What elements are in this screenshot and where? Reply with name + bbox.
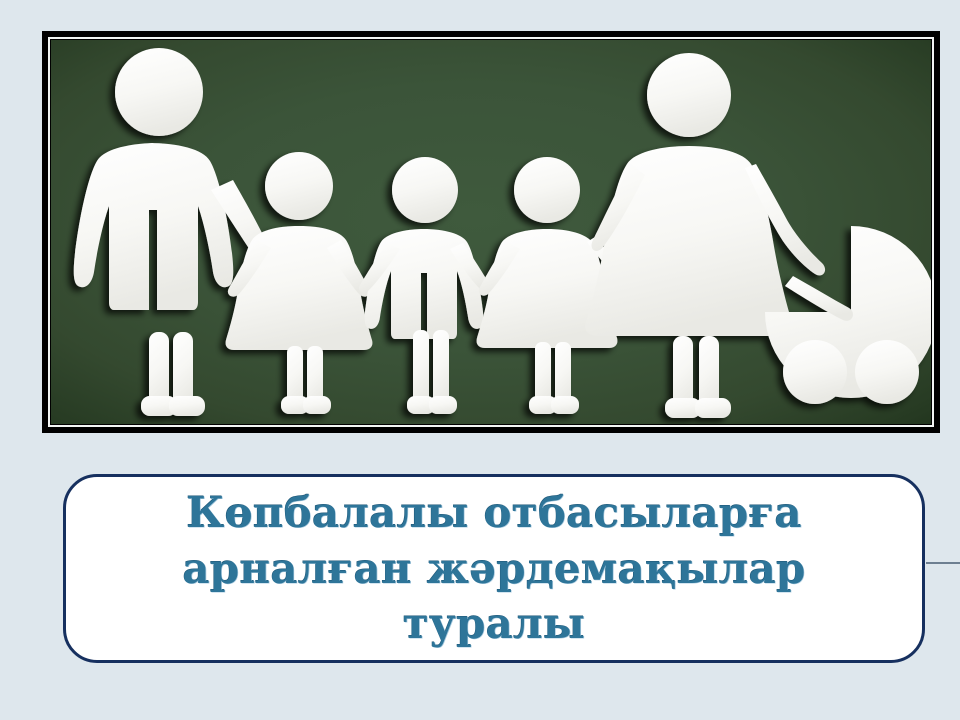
slide-canvas: Көпбалалы отбасыларға арналған жәрдемақы… — [0, 0, 960, 720]
right-edge-divider — [926, 562, 960, 564]
family-pictogram-image — [51, 40, 931, 424]
family-pictogram-svg — [51, 40, 931, 424]
daughter-older-figure — [226, 152, 373, 414]
baby-stroller — [765, 226, 931, 404]
page-title: Көпбалалы отбасыларға арналған жәрдемақы… — [66, 485, 922, 653]
son-figure — [359, 157, 491, 414]
family-image-frame[interactable] — [42, 31, 940, 433]
father-figure — [74, 48, 276, 416]
title-callout-box[interactable]: Көпбалалы отбасыларға арналған жәрдемақы… — [63, 474, 925, 663]
